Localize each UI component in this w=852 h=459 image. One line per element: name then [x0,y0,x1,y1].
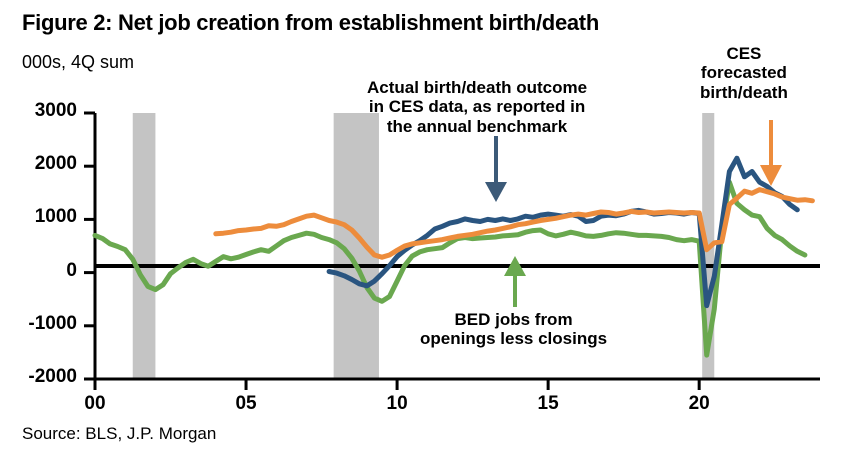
x-tick-label-10: 10 [374,393,420,415]
annotation-ces-actual: Actual birth/death outcomein CES data, a… [367,78,587,136]
annotation-line: the annual benchmark [367,117,587,136]
x-tick-label-15: 15 [525,393,571,415]
annotation-line: openings less closings [420,329,607,348]
annotation-line: birth/death [700,83,788,102]
annotation-line: forecasted [700,63,788,82]
annotation-line: BED jobs from [420,310,607,329]
y-tick-label-0: 0 [7,260,77,282]
y-tick-label-2000: 2000 [7,153,77,175]
recession-band [133,113,156,379]
y-tick-label-3000: 3000 [7,100,77,122]
annotation-bed: BED jobs fromopenings less closings [420,310,607,349]
x-tick-label-20: 20 [676,393,722,415]
down-arrow-orange-icon [760,120,782,186]
x-tick-label-00: 00 [72,393,118,415]
down-arrow-navy-icon [485,136,507,202]
y-tick-label--1000: -1000 [7,313,77,335]
annotation-line: Actual birth/death outcome [367,78,587,97]
annotation-line: CES [700,44,788,63]
y-axis-ticks [84,113,95,379]
y-tick-label--2000: -2000 [7,366,77,388]
x-tick-label-05: 05 [223,393,269,415]
annotation-ces-forecast: CESforecastedbirth/death [700,44,788,102]
annotation-line: in CES data, as reported in [367,97,587,116]
y-tick-label-1000: 1000 [7,206,77,228]
up-arrow-green-icon [504,256,526,307]
